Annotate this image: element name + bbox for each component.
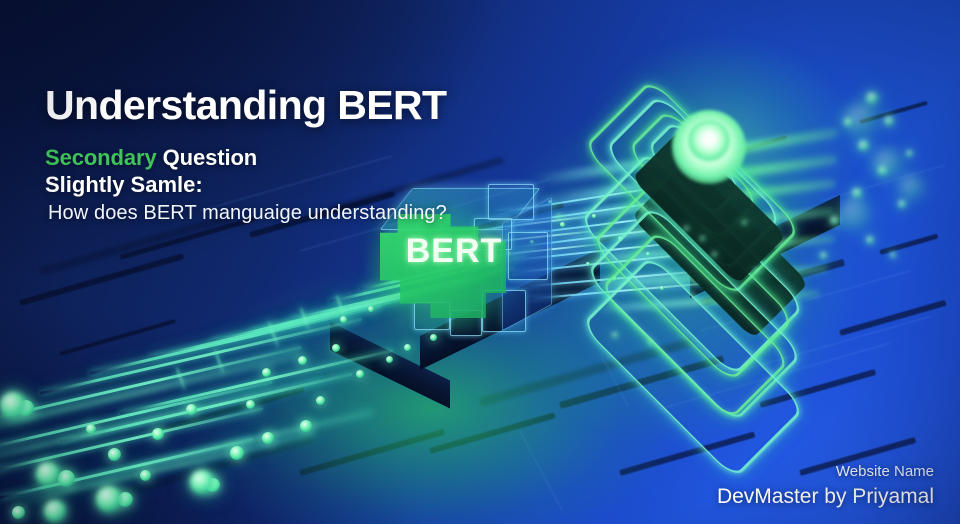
page-title: Understanding BERT [45,82,446,129]
bokeh-dot-2 [858,140,869,151]
brand-eyebrow: Website Name [717,462,934,482]
bert-wireframe-block-a [488,184,534,220]
banner-canvas: BERT Understanding BERT Secondary Questi… [0,0,960,524]
bokeh-dot-4 [852,188,862,198]
bokeh-dot-16 [712,252,717,257]
brand-block: Website Name DevMaster by Priyamal [717,462,934,510]
circuit-node-blur-2 [96,486,122,512]
circuit-node-11 [332,344,340,352]
bokeh-dot-6 [830,216,839,225]
bokeh-dot-15 [684,226,689,231]
circuit-node-9 [262,368,271,377]
subtitle-rest-word: Question [157,145,258,170]
bokeh-dot-5 [898,200,906,208]
bokeh-dot-18 [612,332,618,338]
neural-layer-stack [572,36,872,306]
bokeh-dot-1 [884,116,894,126]
circuit-node-19 [86,424,96,434]
bokeh-dot-large-0 [846,104,876,134]
bokeh-dot-17 [754,268,759,273]
bokeh-dot-large-3 [900,176,922,198]
circuit-node-1 [58,470,75,487]
bokeh-dot-19 [648,340,653,345]
circuit-node-12 [356,370,364,378]
subtitle-accent-word: Secondary [45,145,157,170]
circuit-node-blur-4 [44,500,66,522]
circuit-node-15 [12,506,25,519]
circuit-node-23 [246,400,255,409]
bokeh-dot-14 [640,206,646,212]
circuit-node-7 [300,420,312,432]
circuit-node-8 [316,396,325,405]
bokeh-dot-13 [600,196,605,201]
circuit-node-10 [298,356,307,365]
bokeh-dot-12 [556,214,562,220]
subtitle-line-one: Secondary Question [45,145,257,171]
bokeh-dot-large-1 [874,150,900,176]
bert-wireframe-block-f [482,290,526,332]
bokeh-dot-7 [866,236,874,244]
circuit-node-2 [108,448,121,461]
bokeh-dot-8 [906,150,913,157]
bert-cube-label: BERT [399,232,509,271]
subtitle-line-two: Slightly Samle: [45,172,203,198]
circuit-node-blur-3 [190,470,214,494]
bokeh-dot-21 [742,220,747,225]
circuit-node-6 [262,432,274,444]
bert-processor-cube: BERT [362,170,562,360]
bokeh-dot-0 [866,92,878,104]
question-text: How does BERT manguaige understanding? [48,202,447,225]
bokeh-dot-large-2 [840,200,868,228]
bokeh-dot-11 [890,252,896,258]
bokeh-dot-20 [700,236,705,241]
circuit-node-21 [340,316,347,323]
bokeh-dot-10 [820,252,827,259]
stack-core-hotspot [688,120,730,162]
circuit-node-blur-0 [0,392,26,418]
circuit-node-20 [140,470,151,481]
circuit-node-3 [152,428,164,440]
circuit-node-blur-1 [36,462,60,486]
circuit-node-5 [230,446,244,460]
brand-name: DevMaster by Priyamal [717,483,934,510]
circuit-node-4 [186,404,197,415]
